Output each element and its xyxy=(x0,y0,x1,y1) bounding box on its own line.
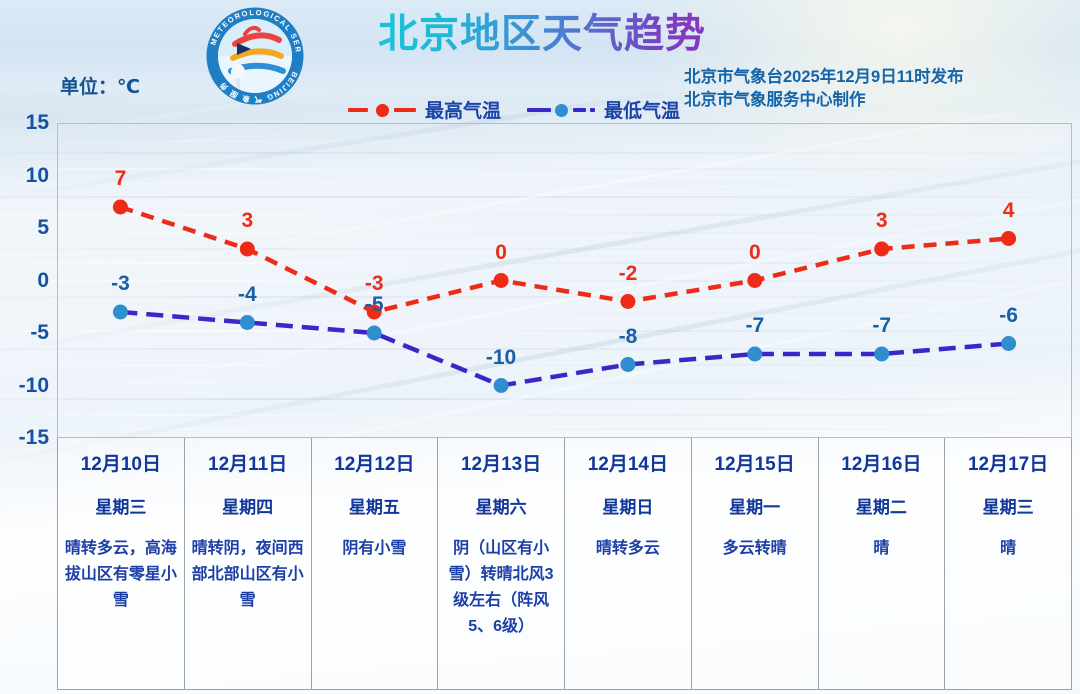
forecast-date: 12月10日 xyxy=(64,452,178,478)
high-temp-point xyxy=(113,200,128,215)
forecast-column: 12月16日星期二晴 xyxy=(819,438,946,689)
low-temp-point xyxy=(113,305,128,320)
low-temp-point xyxy=(1001,336,1016,351)
forecast-description: 晴转阴，夜间西部北部山区有小雪 xyxy=(191,536,305,614)
low-temp-point xyxy=(620,357,635,372)
high-temp-point xyxy=(367,305,382,320)
forecast-date: 12月14日 xyxy=(571,452,685,478)
forecast-description: 晴 xyxy=(825,536,939,562)
forecast-weekday: 星期日 xyxy=(571,496,685,520)
legend-item-low: 最低气温 xyxy=(527,96,680,123)
high-temp-point xyxy=(620,294,635,309)
forecast-description: 多云转晴 xyxy=(698,536,812,562)
low-temp-point xyxy=(747,347,762,362)
high-temp-point xyxy=(874,242,889,257)
forecast-column: 12月14日星期日晴转多云 xyxy=(565,438,692,689)
forecast-column: 12月11日星期四晴转阴，夜间西部北部山区有小雪 xyxy=(185,438,312,689)
forecast-date: 12月13日 xyxy=(444,452,558,478)
issuer-line-1: 北京市气象台2025年12月9日11时发布 xyxy=(684,66,964,89)
forecast-date: 12月12日 xyxy=(318,452,432,478)
legend-low-line-icon xyxy=(527,103,597,117)
forecast-column: 12月10日星期三晴转多云，高海拔山区有零星小雪 xyxy=(58,438,185,689)
low-temp-point xyxy=(494,378,509,393)
forecast-column: 12月15日星期一多云转晴 xyxy=(692,438,819,689)
high-temp-point xyxy=(1001,231,1016,246)
forecast-column: 12月12日星期五阴有小雪 xyxy=(312,438,439,689)
forecast-description: 晴转多云，高海拔山区有零星小雪 xyxy=(64,536,178,614)
high-temp-point xyxy=(494,273,509,288)
beijing-meteorological-service-logo: METEOROLOGICAL SERVICE BEIJING 气 象 服 务 xyxy=(205,6,305,106)
forecast-weekday: 星期五 xyxy=(318,496,432,520)
high-temp-point xyxy=(240,242,255,257)
high-temp-point xyxy=(747,273,762,288)
weather-trend-infographic: METEOROLOGICAL SERVICE BEIJING 气 象 服 务 北… xyxy=(0,0,1080,694)
forecast-description: 晴转多云 xyxy=(571,536,685,562)
forecast-description: 晴 xyxy=(951,536,1065,562)
legend-high-label: 最高气温 xyxy=(425,96,501,123)
forecast-weekday: 星期二 xyxy=(825,496,939,520)
low-temp-point xyxy=(240,315,255,330)
forecast-date: 12月16日 xyxy=(825,452,939,478)
forecast-date: 12月17日 xyxy=(951,452,1065,478)
forecast-weekday: 星期三 xyxy=(951,496,1065,520)
forecast-weekday: 星期四 xyxy=(191,496,305,520)
unit-label: 单位：℃ xyxy=(60,72,140,99)
chart-series-layer xyxy=(57,123,1072,438)
forecast-weekday: 星期三 xyxy=(64,496,178,520)
forecast-description: 阴（山区有小雪）转晴北风3级左右（阵风 5、6级） xyxy=(444,536,558,640)
forecast-description: 阴有小雪 xyxy=(318,536,432,562)
forecast-date: 12月15日 xyxy=(698,452,812,478)
legend-low-label: 最低气温 xyxy=(604,96,680,123)
forecast-weekday: 星期六 xyxy=(444,496,558,520)
chart-legend: 最高气温 最低气温 xyxy=(348,96,680,123)
legend-high-line-icon xyxy=(348,103,418,117)
high-temp-line xyxy=(120,207,1008,312)
issuer-line-2: 北京市气象服务中心制作 xyxy=(684,89,964,112)
low-temp-point xyxy=(367,326,382,341)
forecast-column: 12月13日星期六阴（山区有小雪）转晴北风3级左右（阵风 5、6级） xyxy=(438,438,565,689)
forecast-column: 12月17日星期三晴 xyxy=(945,438,1071,689)
low-temp-point xyxy=(874,347,889,362)
issuer-info: 北京市气象台2025年12月9日11时发布 北京市气象服务中心制作 xyxy=(684,66,964,112)
forecast-date: 12月11日 xyxy=(191,452,305,478)
forecast-weekday: 星期一 xyxy=(698,496,812,520)
forecast-table: 12月10日星期三晴转多云，高海拔山区有零星小雪12月11日星期四晴转阴，夜间西… xyxy=(57,438,1072,690)
page-title: 北京地区天气趋势 xyxy=(372,8,712,60)
legend-item-high: 最高气温 xyxy=(348,96,501,123)
